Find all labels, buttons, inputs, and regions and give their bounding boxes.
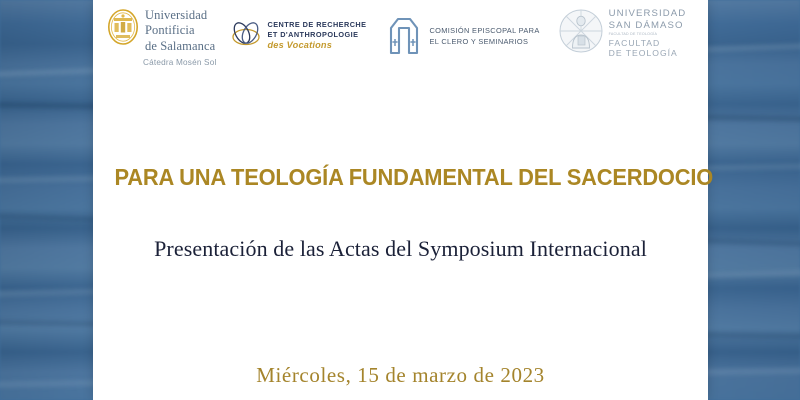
poster-title: PARA UNA TEOLOGÍA FUNDAMENTAL DEL SACERD… xyxy=(115,164,687,191)
logo-sd-line2: SAN DÁMASO xyxy=(609,20,687,31)
logo-universidad-pontificia-salamanca: Universidad Pontificia de Salamanca Cáte… xyxy=(107,8,217,67)
logo-crav-lines: CENTRE DE RECHERCHE ET D'ANTHROPOLOGIE d… xyxy=(268,20,367,51)
logo-strip: Universidad Pontificia de Salamanca Cáte… xyxy=(93,8,708,88)
poster-panel: Universidad Pontificia de Salamanca Cáte… xyxy=(93,0,708,400)
poster-date: Miércoles, 15 de marzo de 2023 xyxy=(93,363,708,388)
logo-cee-lines: COMISIÓN EPISCOPAL PARA EL CLERO Y SEMIN… xyxy=(429,26,539,47)
logo-crav-line1: CENTRE DE RECHERCHE xyxy=(268,20,367,30)
logo-universidad-san-damaso: UNIVERSIDAD SAN DÁMASO FACULTAD DE TEOLO… xyxy=(558,8,687,59)
logo-sd-line3: FACULTAD xyxy=(609,38,687,48)
logo-sd-line4: DE TEOLOGÍA xyxy=(609,48,687,58)
logo-sd-lines: UNIVERSIDAD SAN DÁMASO FACULTAD DE TEOLO… xyxy=(609,8,687,58)
logo-sd-line1: UNIVERSIDAD xyxy=(609,8,687,19)
logo-sd-microline: FACULTAD DE TEOLOGÍA xyxy=(609,32,687,36)
logo-cee-line2: EL CLERO Y SEMINARIOS xyxy=(429,37,539,48)
logo-upsa-subline: Cátedra Mosén Sol xyxy=(143,58,217,67)
triquetra-loops-icon xyxy=(229,18,263,53)
circular-figure-emblem-icon xyxy=(558,8,604,59)
logo-upsa-lines: Universidad Pontificia de Salamanca xyxy=(145,8,215,54)
logo-centre-recherche-anthropologie: CENTRE DE RECHERCHE ET D'ANTHROPOLOGIE d… xyxy=(229,18,367,53)
liturgical-stole-icon xyxy=(384,12,424,61)
logo-comision-episcopal: COMISIÓN EPISCOPAL PARA EL CLERO Y SEMIN… xyxy=(384,12,539,61)
logo-crav-line2: ET D'ANTHROPOLOGIE xyxy=(268,30,367,40)
shield-emblem-icon xyxy=(107,8,139,51)
poster-subtitle: Presentación de las Actas del Symposium … xyxy=(93,236,708,262)
poster-stage: Universidad Pontificia de Salamanca Cáte… xyxy=(0,0,800,400)
logo-crav-line3: des Vocations xyxy=(268,40,367,50)
logo-cee-line1: COMISIÓN EPISCOPAL PARA xyxy=(429,26,539,37)
